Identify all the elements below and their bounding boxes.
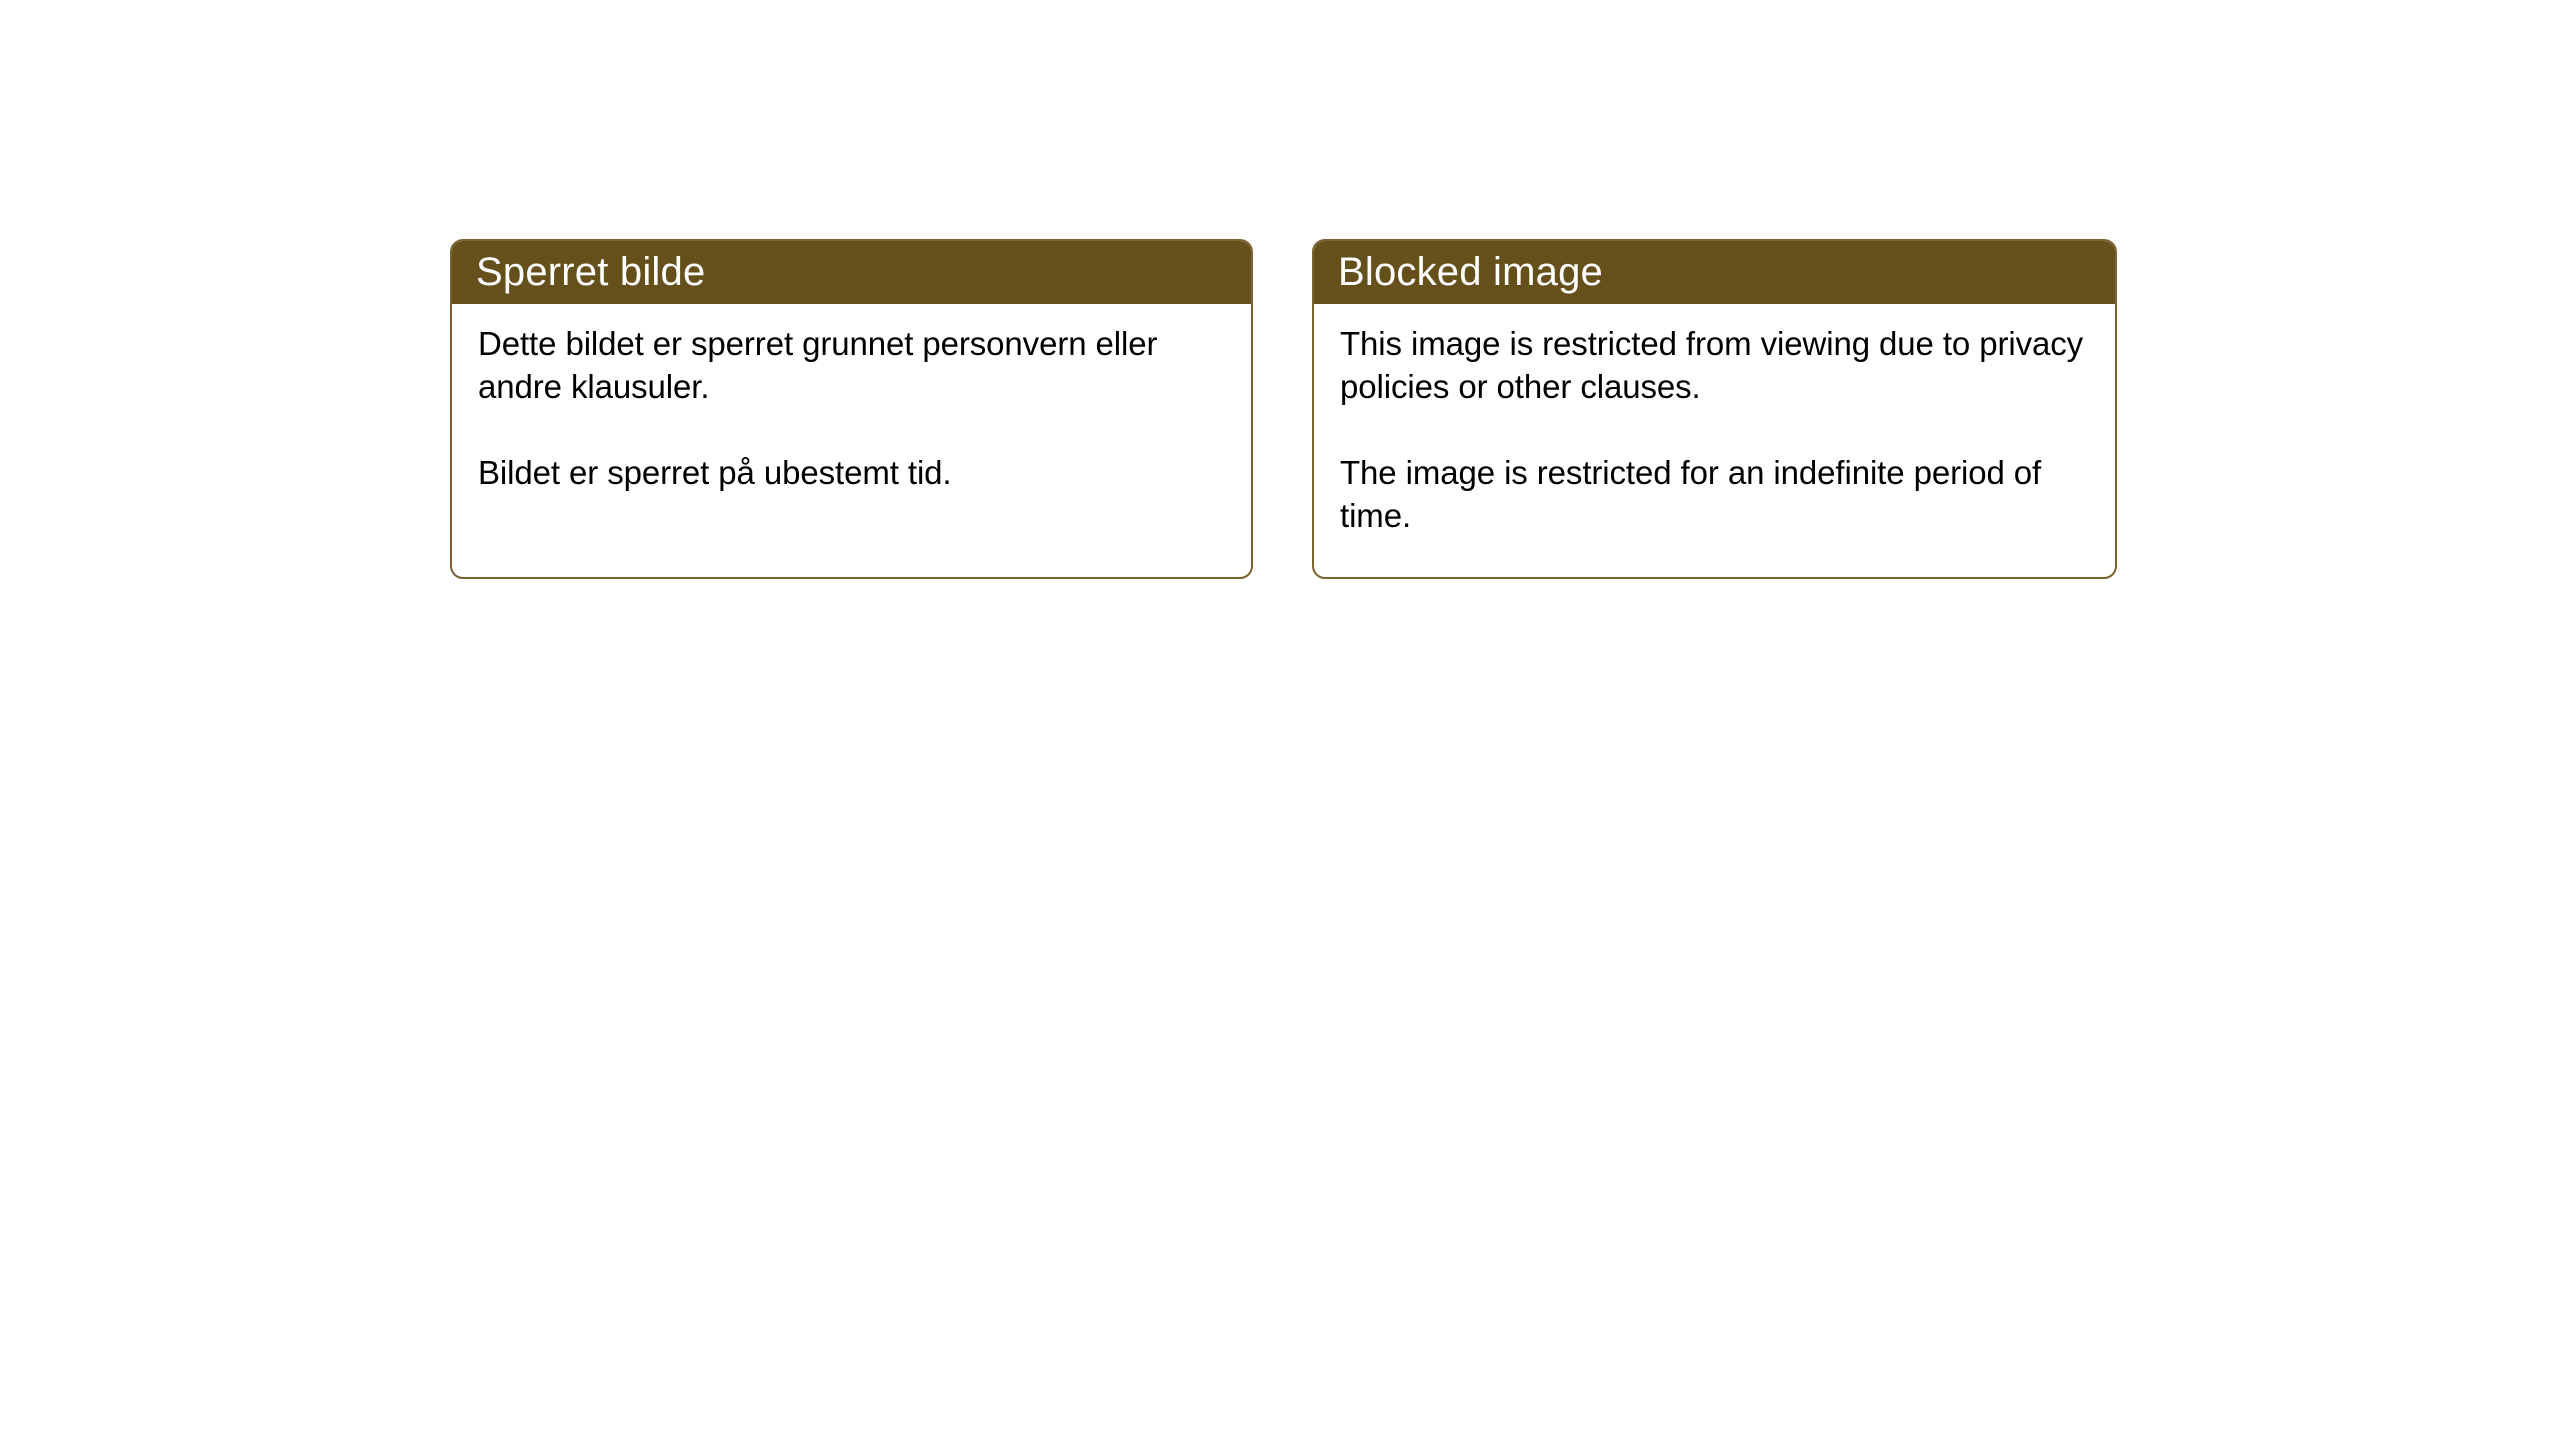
notice-paragraph-reason-english: This image is restricted from viewing du… <box>1340 322 2089 408</box>
notice-title-english: Blocked image <box>1338 252 1603 292</box>
page-root: Sperret bilde Dette bildet er sperret gr… <box>0 0 2560 1440</box>
notice-header-english: Blocked image <box>1314 241 2115 304</box>
notice-header-norwegian: Sperret bilde <box>452 241 1251 304</box>
notice-body-english: This image is restricted from viewing du… <box>1314 304 2115 537</box>
notice-title-norwegian: Sperret bilde <box>476 252 705 292</box>
paragraph-spacer <box>478 408 1225 451</box>
notice-body-norwegian: Dette bildet er sperret grunnet personve… <box>452 304 1251 494</box>
notice-paragraph-duration-english: The image is restricted for an indefinit… <box>1340 451 2089 537</box>
notice-paragraph-duration-norwegian: Bildet er sperret på ubestemt tid. <box>478 451 1225 494</box>
notice-paragraph-reason-norwegian: Dette bildet er sperret grunnet personve… <box>478 322 1225 408</box>
blocked-image-notice-norwegian: Sperret bilde Dette bildet er sperret gr… <box>450 239 1253 579</box>
paragraph-spacer <box>1340 408 2089 451</box>
blocked-image-notice-english: Blocked image This image is restricted f… <box>1312 239 2117 579</box>
